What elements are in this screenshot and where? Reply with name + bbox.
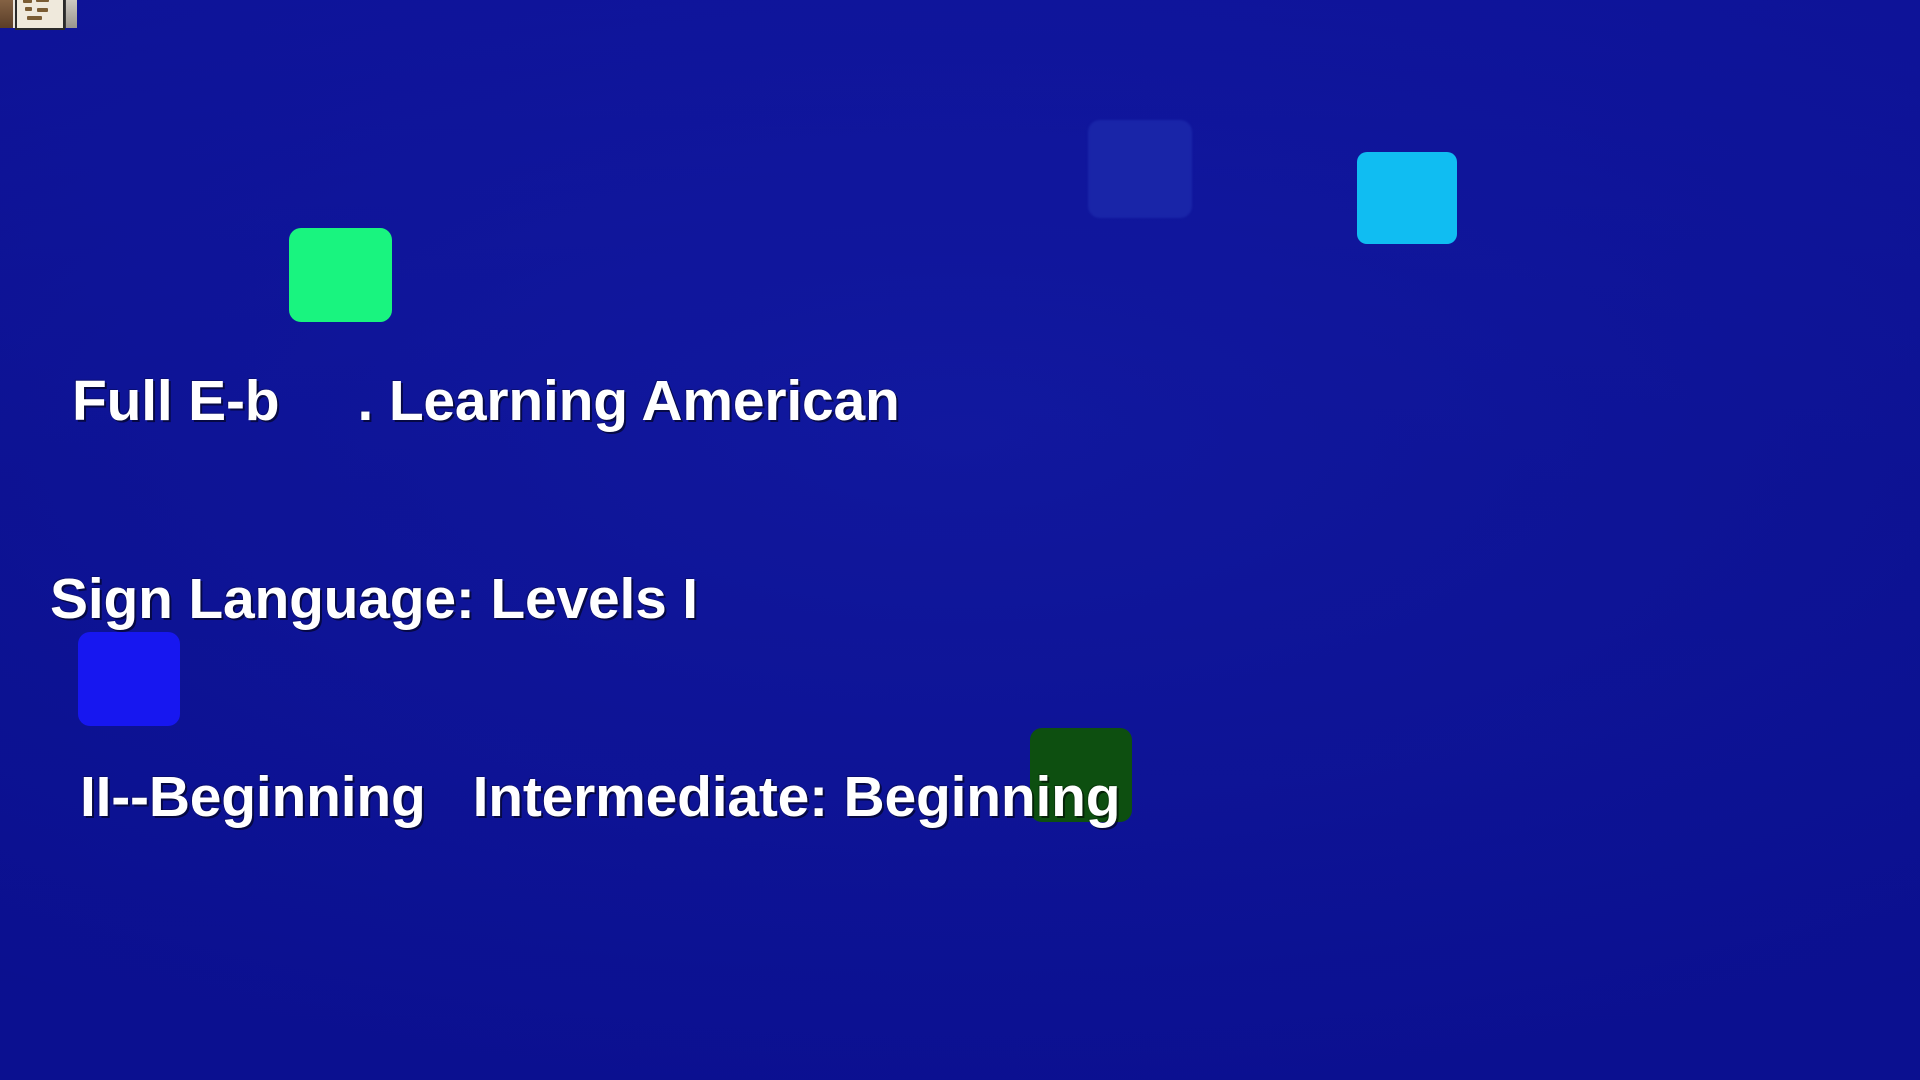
video-frame: Full E-b . Learning American Sign Langua… xyxy=(0,0,1920,1080)
thumbnail-page xyxy=(15,0,65,30)
soft-blue-square xyxy=(1088,120,1192,218)
headline-title: Full E-b . Learning American Sign Langua… xyxy=(50,236,1300,962)
thumbnail-right-edge xyxy=(65,0,77,28)
headline-line-1: Full E-b . Learning American xyxy=(50,368,1300,434)
headline-line-2: Sign Language: Levels I xyxy=(50,566,1300,632)
book-thumbnail-icon[interactable] xyxy=(0,0,78,30)
cyan-square xyxy=(1357,152,1457,244)
thumbnail-left-edge xyxy=(0,0,15,28)
green-square xyxy=(289,228,392,322)
headline-line-3: II--Beginning Intermediate: Beginning xyxy=(50,764,1300,830)
